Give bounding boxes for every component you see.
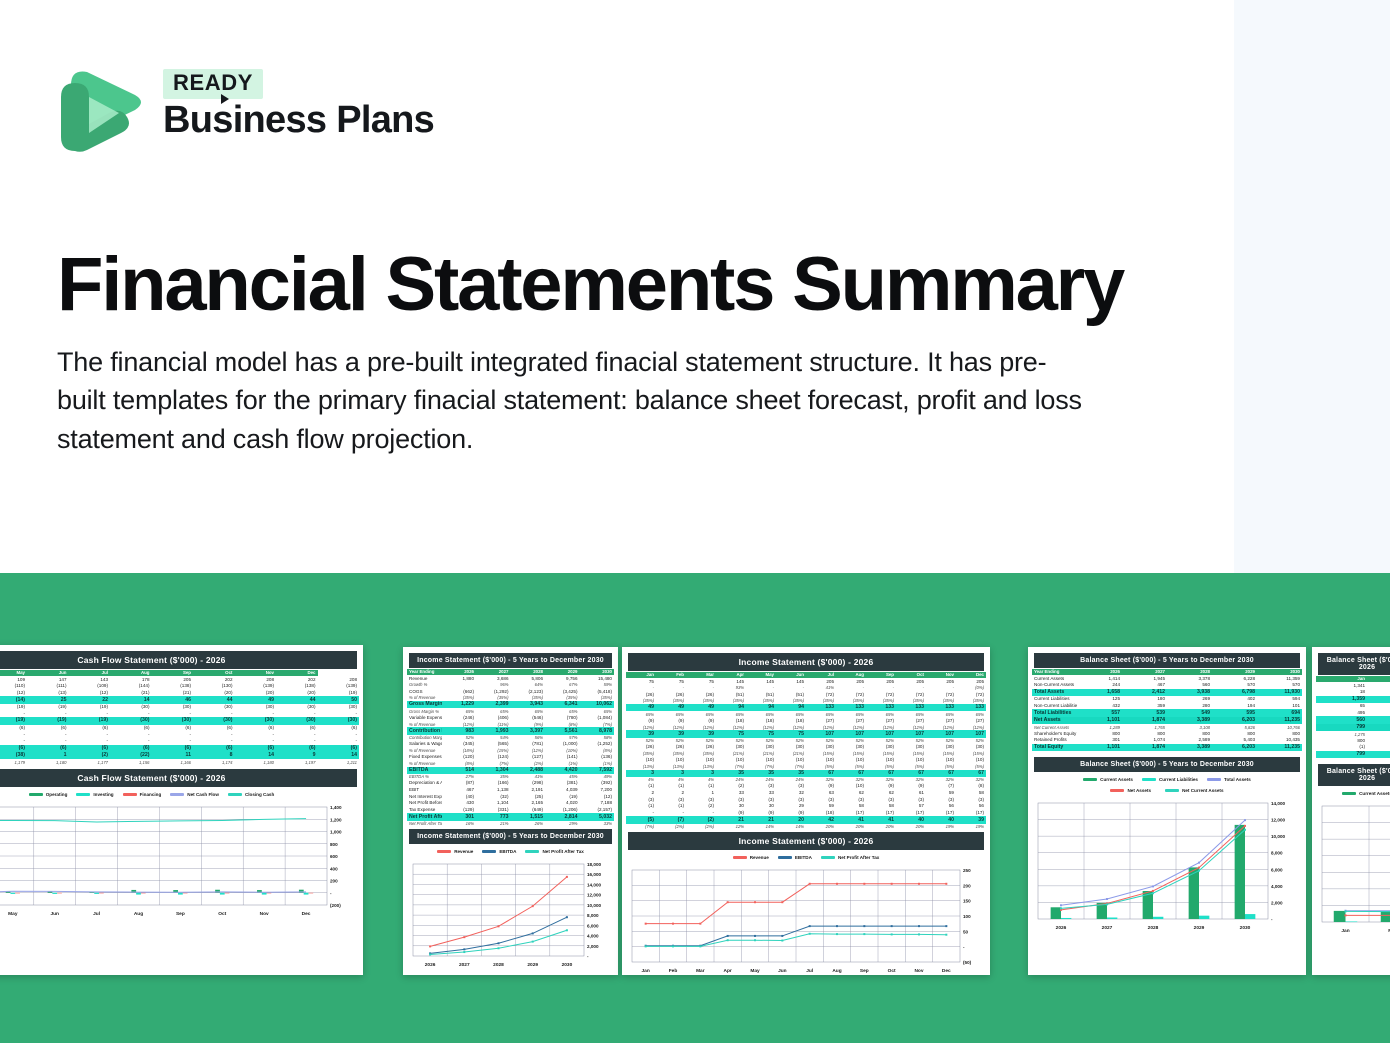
table-cell: 800 (1122, 731, 1167, 738)
svg-text:800: 800 (330, 841, 338, 846)
table-cell: 39 (956, 816, 986, 823)
table-cell: (2) (686, 803, 716, 810)
table-cell: - (69, 738, 111, 745)
table-cell: (19) (0, 704, 27, 711)
table-cell: 1,166 (152, 759, 194, 765)
svg-text:2028: 2028 (1148, 925, 1159, 931)
table-cell: 33 (716, 790, 746, 797)
table-cell: 39 (626, 730, 656, 737)
table-cell: 1,180 (235, 759, 277, 765)
table-row: Depreciation & Amortisation(87)(166)(298… (407, 780, 614, 787)
legend-label: Closing Cash (245, 792, 274, 797)
table-cell: (9) (776, 810, 806, 817)
table-cell: (6) (69, 725, 111, 732)
table-cell: 8 (193, 752, 235, 759)
table-row: 495489 (1316, 710, 1390, 717)
table-cell: 36 (1367, 689, 1390, 696)
legend-swatch-icon (1165, 789, 1179, 792)
table-cell: 2 (656, 790, 686, 797)
table-row: (19)(19)(19)(19)(30)(30)(30)(30)(30)(30) (0, 717, 359, 724)
table-row: EBITDA5141,3042,4884,4207,592 (407, 767, 614, 774)
table-cell: 570 (1257, 682, 1302, 689)
table-cell: (111) (27, 683, 69, 690)
table-cell: 133 (836, 704, 866, 711)
table-row: ---------- (0, 738, 359, 745)
table-cell: 75 (656, 678, 686, 685)
table-row: (3)(3)(3)(3)(3)(3)(3)(3)(3)(3)(3)(3) (626, 796, 986, 803)
table-cell: 94 (716, 704, 746, 711)
table-cell: (20) (276, 690, 318, 697)
balance5-chart-legend-row1: Current AssetsCurrent LiabilitiesTotal A… (1032, 773, 1302, 784)
row-label: Total Equity (1032, 744, 1077, 751)
row-label: Retained Profits (1032, 737, 1077, 744)
table-cell: (10) (686, 757, 716, 764)
table-row: Variable Expenses(246)(406)(546)(780)(1,… (407, 715, 614, 722)
thumbnail-income-statement-5yr[interactable]: Income Statement ($'000) - 5 Years to De… (403, 647, 618, 975)
table-cell: 1,874 (1122, 717, 1167, 724)
ready-badge: READY (163, 69, 263, 99)
thumbnail-balance-sheet-5yr[interactable]: Balance Sheet ($'000) - 5 Years to Decem… (1028, 647, 1306, 975)
table-cell: 62 (836, 790, 866, 797)
svg-text:200: 200 (963, 883, 971, 888)
table-cell: (124) (476, 754, 511, 761)
table-cell: 12% (716, 824, 746, 830)
table-cell: 2 (626, 790, 656, 797)
table-cell: 20 (776, 816, 806, 823)
table-cell: 65 (1316, 703, 1367, 710)
balance12-chart-legend: Current Assets (1316, 787, 1390, 798)
table-cell: (3) (806, 796, 836, 803)
legend-label: Investing (93, 792, 113, 797)
table-cell: 35 (746, 770, 776, 777)
table-cell: 5,032 (580, 813, 615, 820)
table-cell: (9) (746, 810, 776, 817)
table-cell: (72) (956, 691, 986, 698)
table-cell: 107 (836, 730, 866, 737)
svg-text:Jan: Jan (1341, 928, 1349, 934)
table-cell: 39 (686, 730, 716, 737)
svg-text:Jun: Jun (778, 968, 787, 974)
table-cell: 202 (193, 676, 235, 683)
table-cell: - (686, 810, 716, 817)
table-cell: (18) (776, 718, 806, 725)
table-cell: (18) (806, 810, 836, 817)
row-label: COGS (407, 688, 442, 695)
table-cell: 2,191 (511, 787, 546, 794)
table-cell: 20% (896, 824, 926, 830)
table-cell: (51) (746, 691, 776, 698)
svg-text:Mar: Mar (696, 968, 705, 974)
table-cell: (27) (806, 718, 836, 725)
svg-text:Oct: Oct (888, 968, 896, 974)
table-cell: (3) (686, 796, 716, 803)
table-cell: (51) (776, 691, 806, 698)
table-cell: (6) (0, 745, 27, 752)
legend-item: Revenue (437, 849, 473, 854)
table-row: 6572 (1316, 703, 1390, 710)
table-cell: (18) (746, 718, 776, 725)
row-label: EBITDA (407, 767, 442, 774)
svg-text:-: - (1271, 917, 1273, 922)
table-cell: 75 (716, 730, 746, 737)
table-cell: 799 (1316, 724, 1367, 731)
table-cell: 40 (926, 816, 956, 823)
table-cell: 16% (442, 821, 477, 827)
cashflow-chart-legend: OperatingInvestingFinancingNet Cash Flow… (0, 788, 359, 799)
table-cell: 5,806 (511, 675, 546, 682)
thumbnail-balance-sheet-monthly[interactable]: Balance Sheet ($'000) - 2026 JanFeb1,341… (1312, 647, 1390, 975)
table-cell: - (656, 810, 686, 817)
brand-play-accent-icon (221, 94, 229, 104)
table-cell: 5,561 (545, 727, 580, 734)
table-row: Net Profit Before Tax4301,1042,1654,0207… (407, 800, 614, 807)
table-row: Gross Margin1,2292,3993,9436,34110,062 (407, 701, 614, 708)
table-cell: 21% (476, 821, 511, 827)
balance5-table: Year Ending20262027202820292030Current A… (1032, 669, 1302, 751)
table-cell: 7,188 (580, 800, 615, 807)
table-cell: - (276, 731, 318, 738)
table-cell: 594 (1257, 696, 1302, 703)
legend-swatch-icon (778, 856, 792, 859)
table-cell: 773 (476, 813, 511, 820)
table-cell: (110) (0, 683, 27, 690)
table-cell: 30 (716, 803, 746, 810)
income12-chart: 25020015010050-(50)JanFebMarAprMayJunJul… (628, 864, 984, 975)
table-cell: - (69, 710, 111, 717)
svg-text:2030: 2030 (562, 962, 573, 968)
table-row: 221333332636262615958 (626, 790, 986, 797)
table-cell: (3) (716, 796, 746, 803)
table-cell: (10) (956, 757, 986, 764)
svg-text:-: - (330, 890, 332, 895)
table-cell: 58 (836, 803, 866, 810)
table-cell: (1) (626, 783, 656, 790)
svg-text:14,000: 14,000 (587, 882, 601, 887)
table-cell: 59 (926, 790, 956, 797)
table-cell: 514 (442, 767, 477, 774)
table-cell: 2,488 (511, 767, 546, 774)
table-row: ---------- (0, 710, 359, 717)
row-label: Total Assets (1032, 689, 1077, 696)
table-cell: (10) (926, 757, 956, 764)
table-cell: (1,206) (545, 807, 580, 814)
legend-item: Financing (123, 792, 162, 797)
table-cell: (166) (476, 780, 511, 787)
table-cell: 75 (776, 730, 806, 737)
table-cell: 22 (69, 696, 111, 703)
table-cell: 3,389 (1167, 744, 1212, 751)
table-cell: (17) (896, 810, 926, 817)
table-cell: 1 (27, 752, 69, 759)
table-cell: (109) (69, 683, 111, 690)
table-cell: (10) (896, 757, 926, 764)
table-cell: 49 (235, 696, 277, 703)
svg-text:10,000: 10,000 (587, 903, 601, 908)
table-cell: 32 (776, 790, 806, 797)
svg-text:Nov: Nov (914, 968, 923, 974)
table-cell: (14) (0, 696, 27, 703)
table-cell: 14 (235, 752, 277, 759)
table-cell: (10) (806, 757, 836, 764)
table-cell: 6,228 (1212, 675, 1257, 682)
svg-text:Dec: Dec (942, 968, 951, 974)
table-cell: 19% (926, 824, 956, 830)
legend-label: EBITDA (795, 855, 812, 860)
svg-text:200: 200 (330, 878, 338, 883)
table-cell: (26) (626, 744, 656, 751)
table-row: 800800 (1316, 738, 1390, 745)
table-row: (5)(7)(2)212120424141404039 (626, 816, 986, 823)
table-row: Fixed Expenses(120)(124)(127)(141)(136) (407, 754, 614, 761)
table-cell: 67 (956, 770, 986, 777)
legend-label: Current Liabilities (1159, 777, 1198, 782)
table-cell: - (193, 710, 235, 717)
table-cell: (30) (276, 717, 318, 724)
svg-text:6,000: 6,000 (1271, 868, 1283, 873)
table-cell: (6) (69, 745, 111, 752)
table-cell: (2) (716, 783, 746, 790)
table-cell: 75 (746, 730, 776, 737)
table-cell: 33 (746, 790, 776, 797)
table-row: Retained Profits3011,0742,5895,40310,435 (1032, 737, 1302, 744)
table-cell: 14% (776, 824, 806, 830)
table-cell: (21) (110, 690, 152, 697)
table-cell: (72) (866, 691, 896, 698)
table-cell: 125 (1077, 696, 1122, 703)
table-cell: 94 (776, 704, 806, 711)
legend-item: Current Liabilities (1142, 777, 1198, 782)
income12-table-title: Income Statement ($'000) - 2026 (628, 653, 984, 671)
income12-chart-title: Income Statement ($'000) - 2026 (628, 832, 984, 850)
table-cell: 20% (806, 824, 836, 830)
table-cell: 41 (866, 816, 896, 823)
table-cell: 2,589 (1167, 737, 1212, 744)
table-cell: 39 (656, 730, 686, 737)
legend-item: Net Current Assets (1165, 788, 1223, 793)
income5-table-title: Income Statement ($'000) - 5 Years to De… (409, 653, 612, 668)
table-cell: (9) (686, 718, 716, 725)
thumbnail-income-statement-monthly[interactable]: Income Statement ($'000) - 2026 JanFebMa… (622, 647, 990, 975)
table-cell: (1,252) (580, 741, 615, 748)
table-cell: 402 (1212, 696, 1257, 703)
table-cell: (6) (235, 745, 277, 752)
table-cell: (30) (716, 744, 746, 751)
table-cell: 800 (1257, 731, 1302, 738)
table-cell: 11,930 (1257, 689, 1302, 696)
svg-text:150: 150 (963, 899, 971, 904)
table-cell: 3,378 (1167, 675, 1212, 682)
table-cell: 208 (235, 676, 277, 683)
table-row: COGS(662)(1,292)(2,123)(3,425)(5,418) (407, 688, 614, 695)
svg-text:Sep: Sep (860, 968, 869, 974)
table-cell: (246) (442, 715, 477, 722)
table-cell: (26) (686, 744, 716, 751)
table-row: 1836 (1316, 689, 1390, 696)
table-row: 1,2171,1791,1801,1771,1561,1661,1741,180… (0, 759, 359, 765)
table-cell: (27) (926, 718, 956, 725)
table-cell: - (110, 710, 152, 717)
table-row: Net Assets1,1011,8743,3896,20311,235 (1032, 717, 1302, 724)
table-cell: (781) (511, 741, 546, 748)
table-cell: 62 (866, 790, 896, 797)
table-cell: - (318, 738, 360, 745)
table-cell: (3) (776, 796, 806, 803)
legend-item: Closing Cash (228, 792, 274, 797)
table-cell: 560 (1167, 682, 1212, 689)
balance5-chart-title: Balance Sheet ($'000) - 5 Years to Decem… (1034, 757, 1300, 772)
svg-text:2026: 2026 (1056, 925, 1067, 931)
table-cell: (3) (656, 796, 686, 803)
legend-swatch-icon (1207, 778, 1221, 781)
table-row: 333353535676767676767 (626, 770, 986, 777)
table-cell: (6) (235, 725, 277, 732)
table-cell: (141) (545, 754, 580, 761)
balance12-table: JanFeb1,3411,32318361,3591,3596572495489… (1316, 676, 1390, 758)
svg-text:16,000: 16,000 (587, 872, 601, 877)
table-cell: - (276, 710, 318, 717)
table-cell: 19% (956, 824, 986, 830)
table-cell: (6) (27, 745, 69, 752)
table-cell: 1,304 (476, 767, 511, 774)
table-cell: - (0, 710, 27, 717)
table-cell: (19) (0, 717, 27, 724)
table-cell: (129) (442, 807, 477, 814)
table-cell: (138) (152, 683, 194, 690)
table-cell: - (626, 810, 656, 817)
table-cell: - (276, 738, 318, 745)
svg-text:2,000: 2,000 (587, 944, 599, 949)
svg-text:2029: 2029 (527, 962, 538, 968)
table-cell: (331) (476, 807, 511, 814)
table-cell: (9) (896, 783, 926, 790)
table-row: 79109147143178205202208202208 (0, 676, 359, 683)
table-cell: - (318, 731, 360, 738)
svg-text:Dec: Dec (302, 911, 311, 917)
cashflow-table: AprMayJunJulAugSepOctNovDec7910914714317… (0, 670, 359, 766)
page-description: The financial model has a pre-built inte… (57, 343, 1087, 458)
table-cell: (381) (545, 780, 580, 787)
table-cell: 145 (716, 678, 746, 685)
table-cell: (10) (716, 757, 746, 764)
table-row: (1)(2) (1316, 744, 1390, 751)
table-cell: - (235, 710, 277, 717)
legend-swatch-icon (76, 793, 90, 796)
table-row: Net Profit After Tax3017731,5152,8145,03… (407, 813, 614, 820)
table-cell: 1,874 (1122, 744, 1167, 751)
svg-text:10,000: 10,000 (1271, 834, 1285, 839)
brand-name: Business Plans (163, 101, 434, 141)
table-cell: 205 (926, 678, 956, 685)
table-cell: (6) (276, 725, 318, 732)
legend-label: EBITDA (499, 849, 516, 854)
table-row: 757575145145145205205205205205205 (626, 678, 986, 685)
row-label: Current Liabilities (1032, 696, 1077, 703)
svg-text:2026: 2026 (425, 962, 436, 968)
table-row: 560561 (1316, 716, 1390, 723)
table-cell: 595 (1212, 709, 1257, 716)
table-row: Contribution Margin9831,9933,3975,5618,9… (407, 727, 614, 734)
income5-chart: 18,00016,00014,00012,00010,0008,0006,000… (409, 858, 612, 970)
table-cell: 4,039 (545, 787, 580, 794)
table-cell: (9) (656, 718, 686, 725)
svg-text:(200): (200) (330, 903, 341, 908)
table-cell: 35 (716, 770, 746, 777)
table-cell: 58 (866, 803, 896, 810)
legend-swatch-icon (29, 793, 43, 796)
table-row: Total Equity1,1011,8743,3896,20311,235 (1032, 744, 1302, 751)
table-cell: 205 (956, 678, 986, 685)
table-cell: (8) (956, 783, 986, 790)
legend-swatch-icon (1342, 792, 1356, 795)
table-cell: 3,686 (476, 675, 511, 682)
table-cell: 557 (1077, 709, 1122, 716)
table-cell: 1,074 (1122, 737, 1167, 744)
table-cell: 6,341 (545, 701, 580, 708)
table-cell: (30) (866, 744, 896, 751)
table-cell: 495 (1316, 710, 1367, 717)
legend-label: Total Assets (1224, 777, 1251, 782)
legend-swatch-icon (482, 850, 496, 853)
table-cell: (5) (626, 816, 656, 823)
table-cell: 2,814 (545, 813, 580, 820)
table-row: Current Assets1,4141,9453,3786,22811,359 (1032, 675, 1302, 682)
table-row: 799798 (1316, 751, 1390, 758)
legend-label: Net Profit After Tax (542, 849, 583, 854)
table-cell: (139) (318, 683, 360, 690)
svg-text:6,000: 6,000 (587, 923, 599, 928)
row-label: Net Assets (1032, 717, 1077, 724)
svg-text:-: - (587, 954, 589, 959)
table-cell: (7) (926, 783, 956, 790)
table-cell: (2,157) (580, 807, 615, 814)
svg-text:2027: 2027 (459, 962, 470, 968)
balance12-chart: JanFeb (1318, 800, 1390, 936)
table-cell: 1,104 (476, 800, 511, 807)
table-cell: (32) (476, 793, 511, 800)
table-cell: 1,658 (1077, 689, 1122, 696)
table-cell: (1) (656, 783, 686, 790)
table-cell: (30) (926, 744, 956, 751)
svg-text:2028: 2028 (493, 962, 504, 968)
table-cell: - (0, 738, 27, 745)
row-label: Salaries & Wages (407, 741, 442, 748)
table-cell: 94 (746, 704, 776, 711)
legend-swatch-icon (733, 856, 747, 859)
table-cell: (10) (776, 757, 806, 764)
svg-text:12,000: 12,000 (587, 893, 601, 898)
table-row: Current Liabilities125180269402594 (1032, 696, 1302, 703)
table-cell: (392) (580, 780, 615, 787)
table-cell: (6) (0, 725, 27, 732)
table-cell: 107 (926, 730, 956, 737)
table-cell: 694 (1257, 709, 1302, 716)
table-cell: 301 (442, 813, 477, 820)
table-cell: (30) (152, 717, 194, 724)
table-cell: (780) (545, 715, 580, 722)
table-row: Total Liabilities557539549595694 (1032, 709, 1302, 716)
table-cell: 15,480 (580, 675, 615, 682)
thumbnail-cash-flow-statement[interactable]: Cash Flow Statement ($'000) - 2026 AprMa… (0, 645, 363, 975)
right-accent-band (1234, 0, 1390, 573)
table-cell: (30) (235, 717, 277, 724)
row-label: Net Interest Expense (407, 793, 442, 800)
balance12-chart-title: Balance Sheet ($'000) - 2026 (1318, 764, 1390, 786)
table-cell: 56 (926, 803, 956, 810)
table-cell: 4,020 (545, 800, 580, 807)
table-cell: (30) (152, 704, 194, 711)
table-cell: 301 (1077, 737, 1122, 744)
table-cell: 244 (1077, 682, 1122, 689)
